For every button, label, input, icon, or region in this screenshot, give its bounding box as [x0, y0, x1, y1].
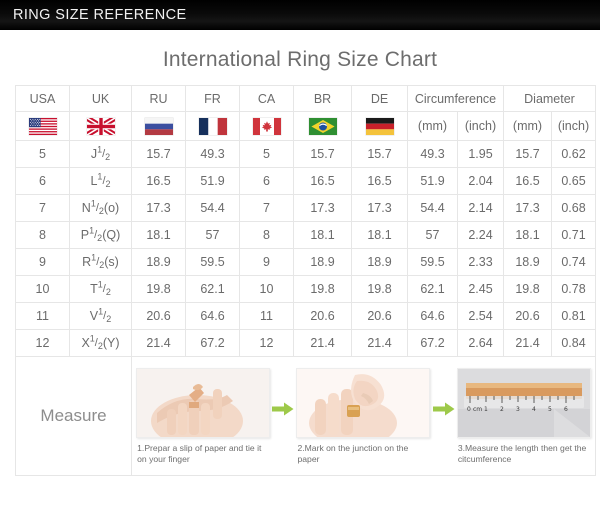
table-header-names: USA UK RU FR CA BR DE Circumference Diam…	[16, 86, 596, 112]
table-header-flags: (mm) (inch) (mm) (inch)	[16, 112, 596, 141]
right-arrow-icon	[270, 394, 296, 424]
cell-flag-usa	[16, 112, 70, 141]
cell-ca: 12	[240, 330, 294, 357]
cell-usa: 10	[16, 276, 70, 303]
cell-circ-mm: 57	[408, 222, 458, 249]
uk-letter: V	[90, 309, 98, 323]
col-header-uk: UK	[70, 86, 132, 112]
flag-de-icon	[366, 118, 394, 135]
svg-text:3: 3	[516, 406, 520, 413]
col-header-ca: CA	[240, 86, 294, 112]
uk-suffix: (Y)	[103, 336, 120, 350]
cell-circ-inch: 2.45	[458, 276, 504, 303]
cell-de: 17.3	[352, 195, 408, 222]
measure-step-1: 1.Prepar a slip of paper and tie it on y…	[136, 368, 270, 465]
cell-dia-mm: 16.5	[504, 168, 552, 195]
table-row: 10 T1/2 19.8 62.1 10 19.8 19.8 62.1 2.45…	[16, 276, 596, 303]
flag-fr-icon	[199, 118, 227, 135]
uk-half-fraction: 1/2	[91, 256, 104, 268]
svg-text:4: 4	[532, 406, 536, 413]
cell-ca: 11	[240, 303, 294, 330]
cell-br: 18.1	[294, 222, 352, 249]
cell-circ-inch: 2.33	[458, 249, 504, 276]
measure-steps: 1.Prepar a slip of paper and tie it on y…	[132, 357, 595, 475]
uk-letter: T	[90, 282, 98, 296]
ruler-measuring-paper-photo: 0 cm 1 2 3 4 5 6	[457, 368, 591, 438]
cell-dia-inch: 0.81	[552, 303, 596, 330]
svg-text:1: 1	[484, 406, 488, 413]
cell-dia-mm: 18.1	[504, 222, 552, 249]
col-header-ru: RU	[132, 86, 186, 112]
uk-suffix: (Q)	[102, 228, 120, 242]
ring-size-table: USA UK RU FR CA BR DE Circumference Diam…	[15, 85, 596, 476]
cell-dia-inch: 0.62	[552, 141, 596, 168]
measure-row: Measure	[16, 357, 596, 476]
cell-circ-inch: 1.95	[458, 141, 504, 168]
cell-circ-mm: 49.3	[408, 141, 458, 168]
cell-flag-fr	[186, 112, 240, 141]
cell-de: 16.5	[352, 168, 408, 195]
cell-fr: 62.1	[186, 276, 240, 303]
table-row: 11 V1/2 20.6 64.6 11 20.6 20.6 64.6 2.54…	[16, 303, 596, 330]
table-row: 8 P1/2(Q) 18.1 57 8 18.1 18.1 57 2.24 18…	[16, 222, 596, 249]
cell-usa: 9	[16, 249, 70, 276]
cell-br: 19.8	[294, 276, 352, 303]
cell-fr: 67.2	[186, 330, 240, 357]
cell-de: 20.6	[352, 303, 408, 330]
uk-suffix: (s)	[104, 255, 119, 269]
cell-dia-inch: 0.68	[552, 195, 596, 222]
table-row: 9 R1/2(s) 18.9 59.5 9 18.9 18.9 59.5 2.3…	[16, 249, 596, 276]
cell-circ-inch: 2.14	[458, 195, 504, 222]
uk-half-fraction: 1/2	[98, 283, 111, 295]
measure-label: Measure	[16, 406, 131, 426]
cell-fr: 57	[186, 222, 240, 249]
uk-letter: P	[81, 228, 89, 242]
cell-fr: 64.6	[186, 303, 240, 330]
cell-usa: 8	[16, 222, 70, 249]
cell-uk: J1/2	[70, 141, 132, 168]
uk-letter: L	[90, 174, 97, 188]
cell-circ-inch: 2.04	[458, 168, 504, 195]
col-header-usa: USA	[16, 86, 70, 112]
step-1-caption: 1.Prepar a slip of paper and tie it on y…	[137, 443, 269, 465]
cell-flag-ca	[240, 112, 294, 141]
cell-fr: 59.5	[186, 249, 240, 276]
ring-size-table-wrap: USA UK RU FR CA BR DE Circumference Diam…	[0, 85, 600, 476]
step-2-caption: 2.Mark on the junction on the paper	[297, 443, 429, 465]
col-header-diameter: Diameter	[504, 86, 596, 112]
col-header-circumference: Circumference	[408, 86, 504, 112]
cell-usa: 12	[16, 330, 70, 357]
cell-ca: 8	[240, 222, 294, 249]
cell-uk: P1/2(Q)	[70, 222, 132, 249]
measure-step-2: 2.Mark on the junction on the paper	[296, 368, 430, 465]
banner-title: RING SIZE REFERENCE	[0, 7, 187, 23]
measure-steps-cell: 1.Prepar a slip of paper and tie it on y…	[132, 357, 596, 476]
cell-dia-mm: 17.3	[504, 195, 552, 222]
svg-text:0: 0	[467, 406, 471, 413]
table-row: 6 L1/2 16.5 51.9 6 16.5 16.5 51.9 2.04 1…	[16, 168, 596, 195]
page-banner: RING SIZE REFERENCE	[0, 0, 600, 30]
table-row: 12 X1/2(Y) 21.4 67.2 12 21.4 21.4 67.2 2…	[16, 330, 596, 357]
cell-dia-inch: 0.71	[552, 222, 596, 249]
uk-letter: N	[82, 201, 91, 215]
col-unit-circumference-mm: (mm)	[408, 112, 458, 141]
cell-circ-mm: 59.5	[408, 249, 458, 276]
cell-circ-mm: 51.9	[408, 168, 458, 195]
cell-circ-inch: 2.24	[458, 222, 504, 249]
cell-ca: 5	[240, 141, 294, 168]
cell-br: 18.9	[294, 249, 352, 276]
uk-half-fraction: 1/2	[90, 337, 103, 349]
col-header-br: BR	[294, 86, 352, 112]
cell-uk: R1/2(s)	[70, 249, 132, 276]
table-row: 5 J1/2 15.7 49.3 5 15.7 15.7 49.3 1.95 1…	[16, 141, 596, 168]
cell-dia-mm: 15.7	[504, 141, 552, 168]
cell-br: 15.7	[294, 141, 352, 168]
flag-ca-icon	[253, 118, 281, 135]
cell-circ-mm: 64.6	[408, 303, 458, 330]
cell-flag-br	[294, 112, 352, 141]
uk-suffix: (o)	[104, 201, 119, 215]
cell-br: 21.4	[294, 330, 352, 357]
cell-dia-mm: 20.6	[504, 303, 552, 330]
col-unit-circumference-inch: (inch)	[458, 112, 504, 141]
cell-flag-ru	[132, 112, 186, 141]
uk-half-fraction: 1/2	[98, 310, 111, 322]
cell-usa: 5	[16, 141, 70, 168]
cell-br: 17.3	[294, 195, 352, 222]
cell-circ-mm: 67.2	[408, 330, 458, 357]
right-arrow-icon	[431, 394, 457, 424]
col-unit-diameter-mm: (mm)	[504, 112, 552, 141]
cell-ru: 18.9	[132, 249, 186, 276]
flag-usa-icon	[29, 118, 57, 135]
uk-half-fraction: 1/2	[89, 229, 102, 241]
flag-ru-icon	[145, 118, 173, 135]
cell-flag-de	[352, 112, 408, 141]
uk-half-fraction: 1/2	[91, 202, 104, 214]
cell-br: 16.5	[294, 168, 352, 195]
cell-br: 20.6	[294, 303, 352, 330]
cell-flag-uk	[70, 112, 132, 141]
cell-circ-inch: 2.64	[458, 330, 504, 357]
uk-half-fraction: 1/2	[97, 175, 110, 187]
cell-ru: 21.4	[132, 330, 186, 357]
cell-ru: 18.1	[132, 222, 186, 249]
cell-ru: 17.3	[132, 195, 186, 222]
cell-de: 15.7	[352, 141, 408, 168]
uk-half-fraction: 1/2	[97, 148, 110, 160]
cell-de: 18.9	[352, 249, 408, 276]
cell-fr: 49.3	[186, 141, 240, 168]
cell-ca: 9	[240, 249, 294, 276]
cell-usa: 7	[16, 195, 70, 222]
cell-de: 21.4	[352, 330, 408, 357]
svg-text:6: 6	[564, 406, 568, 413]
cell-ru: 16.5	[132, 168, 186, 195]
uk-letter: X	[81, 336, 89, 350]
cell-usa: 6	[16, 168, 70, 195]
cell-usa: 11	[16, 303, 70, 330]
cell-dia-mm: 19.8	[504, 276, 552, 303]
cell-dia-inch: 0.78	[552, 276, 596, 303]
flag-uk-icon	[87, 118, 115, 135]
step-3-caption: 3.Measure the length then get the citcum…	[458, 443, 590, 465]
cell-circ-mm: 62.1	[408, 276, 458, 303]
cell-uk: T1/2	[70, 276, 132, 303]
cell-ca: 10	[240, 276, 294, 303]
cell-ru: 20.6	[132, 303, 186, 330]
cell-dia-inch: 0.65	[552, 168, 596, 195]
cell-ca: 6	[240, 168, 294, 195]
cell-fr: 54.4	[186, 195, 240, 222]
cell-uk: X1/2(Y)	[70, 330, 132, 357]
measure-label-cell: Measure	[16, 357, 132, 476]
cell-ru: 19.8	[132, 276, 186, 303]
hand-with-paper-strip-photo	[136, 368, 270, 438]
cell-uk: L1/2	[70, 168, 132, 195]
cell-ca: 7	[240, 195, 294, 222]
cell-de: 19.8	[352, 276, 408, 303]
col-header-fr: FR	[186, 86, 240, 112]
cell-dia-mm: 18.9	[504, 249, 552, 276]
cell-uk: N1/2(o)	[70, 195, 132, 222]
chart-title: International Ring Size Chart	[0, 30, 600, 85]
cell-circ-inch: 2.54	[458, 303, 504, 330]
cell-uk: V1/2	[70, 303, 132, 330]
cell-fr: 51.9	[186, 168, 240, 195]
cell-de: 18.1	[352, 222, 408, 249]
uk-letter: R	[82, 255, 91, 269]
cell-dia-inch: 0.74	[552, 249, 596, 276]
cell-dia-mm: 21.4	[504, 330, 552, 357]
ring-size-reference-page: RING SIZE REFERENCE International Ring S…	[0, 0, 600, 524]
cell-dia-inch: 0.84	[552, 330, 596, 357]
svg-text:5: 5	[548, 406, 552, 413]
table-row: 7 N1/2(o) 17.3 54.4 7 17.3 17.3 54.4 2.1…	[16, 195, 596, 222]
svg-text:2: 2	[500, 406, 504, 413]
cell-circ-mm: 54.4	[408, 195, 458, 222]
flag-br-icon	[309, 118, 337, 135]
svg-text:cm: cm	[473, 406, 482, 413]
cell-ru: 15.7	[132, 141, 186, 168]
col-header-de: DE	[352, 86, 408, 112]
col-unit-diameter-inch: (inch)	[552, 112, 596, 141]
marking-paper-on-finger-photo	[296, 368, 430, 438]
measure-step-3: 0 cm 1 2 3 4 5 6	[457, 368, 591, 465]
